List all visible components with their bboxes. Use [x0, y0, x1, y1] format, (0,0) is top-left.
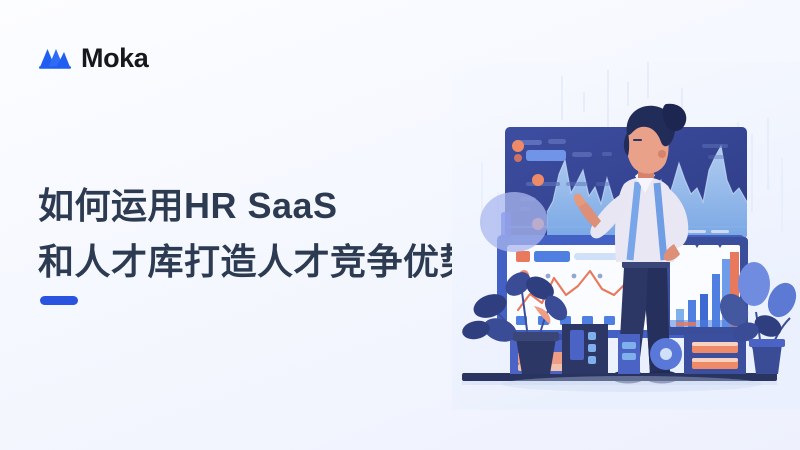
brand-wordmark: Moka	[81, 45, 148, 72]
poster-canvas: Moka 如何运用HR SaaS 和人才库打造人才竞争优势	[0, 0, 800, 450]
floor-shadow	[502, 376, 762, 392]
page-title: 如何运用HR SaaS 和人才库打造人才竞争优势	[38, 178, 508, 290]
brand-logo[interactable]: Moka	[38, 40, 148, 76]
page-title-line-1: 如何运用HR SaaS	[38, 178, 508, 234]
page-title-line-2: 和人才库打造人才竞争优势	[38, 234, 508, 290]
accent-underline	[40, 296, 78, 305]
moka-mountain-logo-icon	[38, 45, 72, 71]
background-blobs	[480, 192, 548, 252]
illustration-svg	[452, 62, 800, 410]
analyst-dashboard-illustration	[452, 62, 800, 410]
